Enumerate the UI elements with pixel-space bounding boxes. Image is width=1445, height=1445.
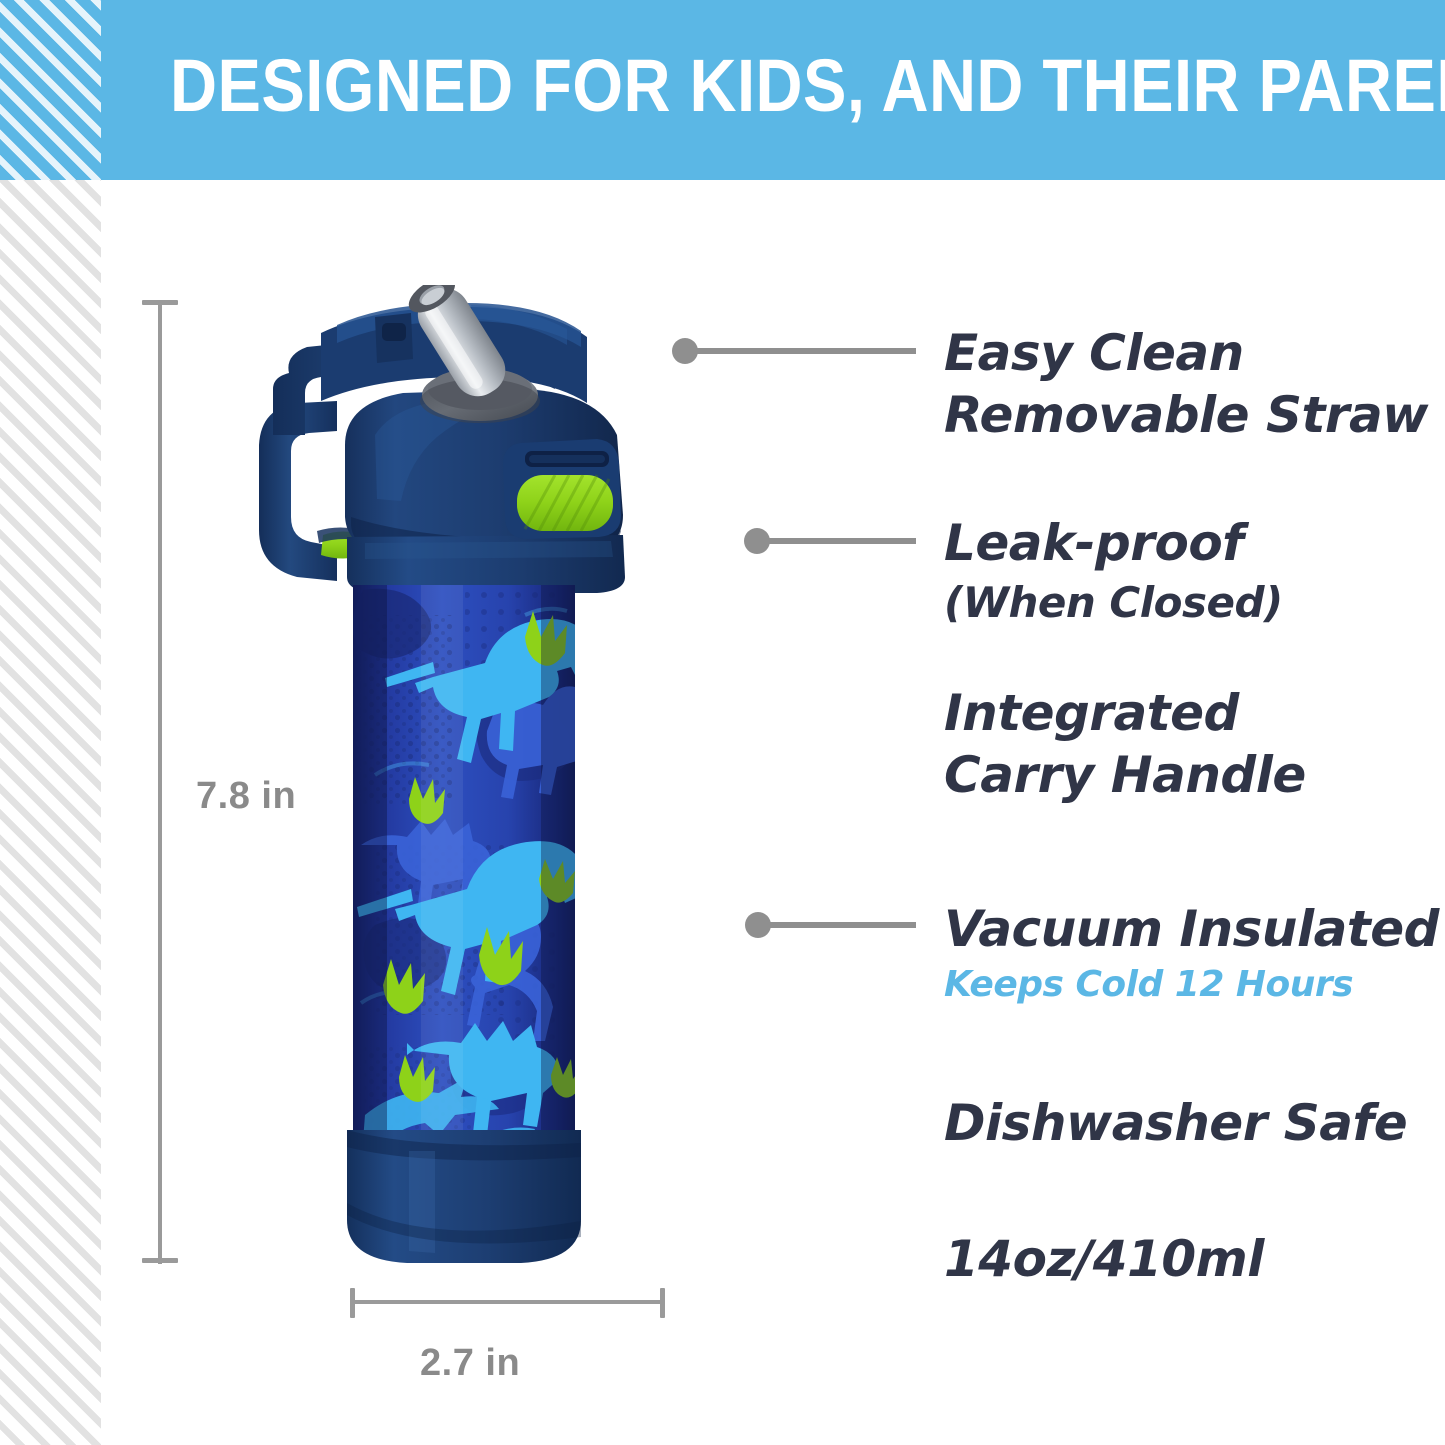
feature-line: 14oz/410ml (944, 1228, 1264, 1290)
feature-line: Carry Handle (944, 744, 1306, 806)
leader-line-vacuum-insulated (757, 922, 916, 928)
diagonal-stripe-pattern-header (0, 0, 101, 180)
feature-leak-proof: Leak-proof (When Closed) (944, 512, 1283, 632)
feature-line: Dishwasher Safe (944, 1092, 1407, 1154)
feature-note-keeps-cold: Keeps Cold 12 Hours (944, 960, 1439, 1010)
product-image-water-bottle (225, 285, 700, 1270)
dinosaur-pattern (352, 585, 601, 1151)
feature-vacuum-insulated: Vacuum Insulated Keeps Cold 12 Hours (944, 898, 1439, 1010)
width-dimension-label: 2.7 in (420, 1342, 520, 1385)
feature-line: Leak-proof (944, 512, 1283, 574)
diagonal-stripe-pattern-lower (0, 180, 101, 1445)
width-dimension-cap-right (660, 1288, 665, 1318)
feature-line: Easy Clean (944, 322, 1428, 384)
page-title: DESIGNED FOR KIDS, AND THEIR PARENTS (170, 36, 1226, 136)
width-dimension-line (352, 1300, 664, 1304)
feature-capacity: 14oz/410ml (944, 1228, 1264, 1290)
feature-line: Integrated (944, 682, 1306, 744)
leader-line-easy-clean (684, 348, 916, 354)
feature-integrated-carry-handle: Integrated Carry Handle (944, 682, 1306, 806)
feature-dishwasher-safe: Dishwasher Safe (944, 1092, 1407, 1154)
feature-subtext: (When Closed) (944, 574, 1283, 632)
feature-line: Vacuum Insulated (944, 898, 1439, 960)
leader-line-leak-proof (756, 538, 916, 544)
infographic-canvas: DESIGNED FOR KIDS, AND THEIR PARENTS 7.8… (0, 0, 1445, 1445)
height-dimension-cap-bottom (142, 1258, 178, 1263)
feature-easy-clean-removable-straw: Easy Clean Removable Straw (944, 322, 1428, 446)
feature-line: Removable Straw (944, 384, 1428, 446)
height-dimension-line (158, 302, 162, 1264)
